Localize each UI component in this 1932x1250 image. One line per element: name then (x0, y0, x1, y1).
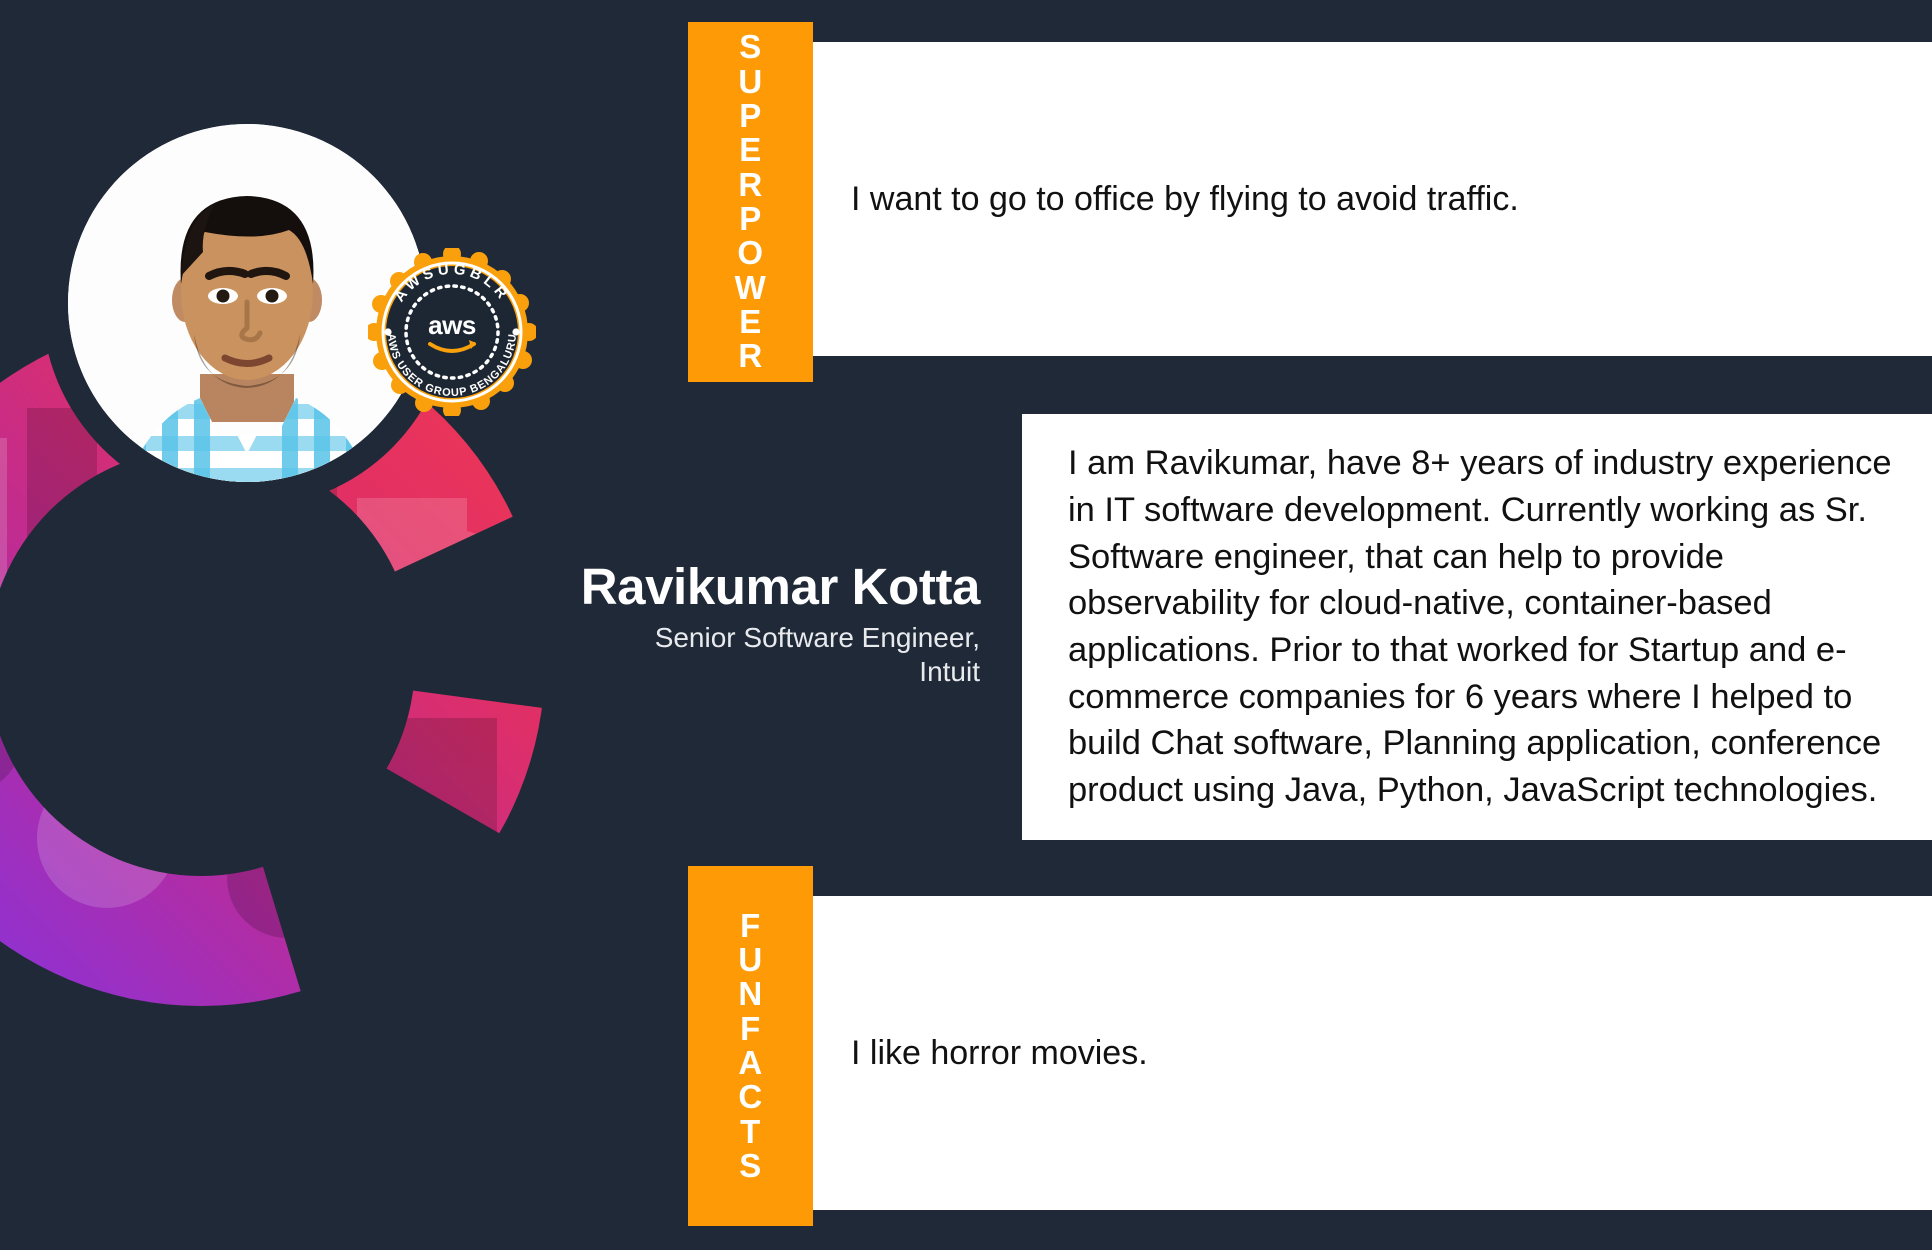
page-title: Ravikumar Kotta (300, 558, 980, 615)
tab-superpower-letter: O (737, 236, 763, 270)
tab-funfacts-letter: F (740, 909, 761, 943)
panel-bio: I am Ravikumar, have 8+ years of industr… (1022, 414, 1932, 840)
tab-superpower-letter: W (735, 271, 767, 305)
superpower-text: I want to go to office by flying to avoi… (813, 177, 1539, 222)
tab-superpower-letter: R (738, 339, 762, 373)
aws-user-group-badge: AWSUGBLR AWS USER GROUP BENGALURU aws (368, 248, 536, 416)
person-role-line-2: Intuit (300, 655, 980, 689)
badge-graphic: AWSUGBLR AWS USER GROUP BENGALURU aws (368, 248, 536, 416)
tab-superpower-letter: U (738, 65, 762, 99)
tab-funfacts-letter: F (740, 1012, 761, 1046)
panel-superpower: I want to go to office by flying to avoi… (813, 42, 1932, 356)
tab-funfacts-letter: U (738, 943, 762, 977)
tab-superpower: S U P E R P O W E R (688, 22, 813, 382)
tab-superpower-letter: P (739, 202, 762, 236)
funfacts-text: I like horror movies. (813, 1031, 1168, 1076)
tab-superpower-letter: S (739, 30, 762, 64)
tab-funfacts-letter: A (738, 1046, 762, 1080)
tab-funfacts-letter: S (739, 1149, 762, 1183)
tab-funfacts-letter: C (738, 1080, 762, 1114)
tab-funfacts-letter: T (740, 1115, 761, 1149)
bio-text: I am Ravikumar, have 8+ years of industr… (1022, 440, 1932, 814)
tab-superpower-letter: E (739, 305, 762, 339)
tab-funfacts: F U N F A C T S (688, 866, 813, 1226)
tab-superpower-letter: R (738, 168, 762, 202)
aws-wordmark: aws (428, 310, 476, 340)
person-role-line-1: Senior Software Engineer, (300, 621, 980, 655)
speaker-profile-card: AWSUGBLR AWS USER GROUP BENGALURU aws Ra… (0, 0, 1932, 1250)
panel-funfacts: I like horror movies. (813, 896, 1932, 1210)
tab-funfacts-letter: N (738, 977, 762, 1011)
name-block: Ravikumar Kotta Senior Software Engineer… (300, 558, 980, 689)
tab-superpower-letter: E (739, 133, 762, 167)
tab-superpower-letter: P (739, 99, 762, 133)
